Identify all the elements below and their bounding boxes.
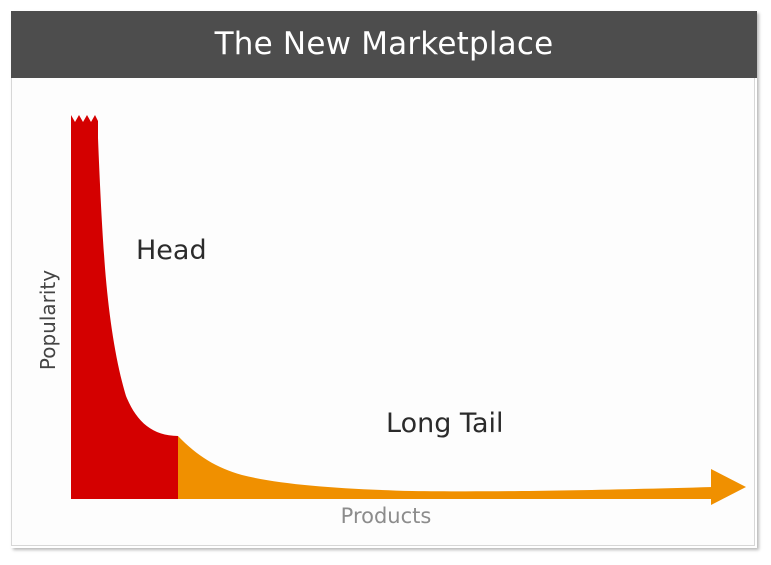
x-axis-label: Products xyxy=(276,506,496,527)
head-fill xyxy=(71,115,178,499)
chart-plot-panel: Popularity Products Head Long Tail xyxy=(11,78,755,546)
head-annotation-label: Head xyxy=(136,237,207,264)
long-tail-curve-graphic xyxy=(12,78,755,546)
y-axis-label: Popularity xyxy=(38,260,58,380)
page-title: The New Marketplace xyxy=(215,29,554,60)
long-tail-chart-screenshot: The New Marketplace Popularity Products … xyxy=(0,0,771,565)
long-tail-arrow-head-icon xyxy=(711,469,746,505)
long-tail-fill xyxy=(178,436,713,499)
head-area xyxy=(71,115,178,499)
long-tail-area xyxy=(178,436,746,505)
long-tail-annotation-label: Long Tail xyxy=(386,410,504,437)
chart-title-bar: The New Marketplace xyxy=(11,11,757,78)
chart-card: The New Marketplace Popularity Products … xyxy=(11,11,757,548)
